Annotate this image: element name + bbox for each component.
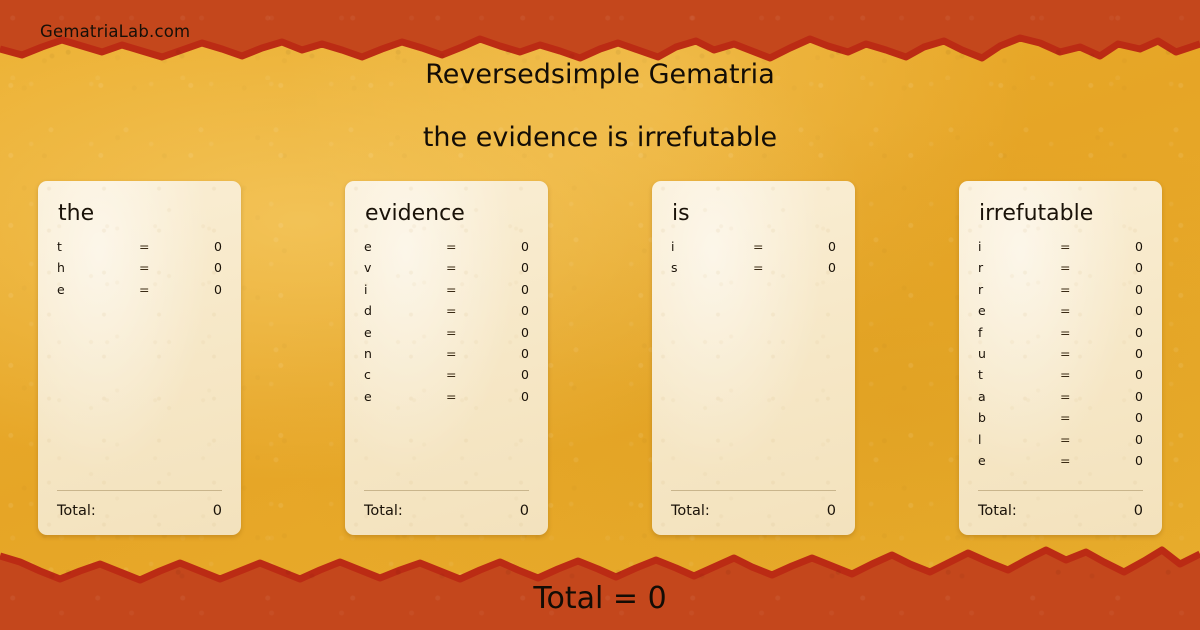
letter-row: l = 0 — [978, 432, 1143, 453]
letter-row: i = 0 — [671, 239, 836, 260]
letter-row: b = 0 — [978, 410, 1143, 431]
letter-row: i = 0 — [364, 282, 529, 303]
equals-sign: = — [1060, 367, 1120, 382]
letter-label: l — [978, 432, 1060, 447]
letter-row: i = 0 — [978, 239, 1143, 260]
letter-row: u = 0 — [978, 346, 1143, 367]
letter-row: r = 0 — [978, 282, 1143, 303]
equals-sign: = — [446, 346, 506, 361]
letter-label: i — [364, 282, 446, 297]
equals-sign: = — [1060, 239, 1120, 254]
word-card: irrefutable i = 0 r = 0 r = 0 — [959, 181, 1162, 535]
letter-value: 0 — [1120, 410, 1143, 425]
word-cards-container: the t = 0 h = 0 e = 0 — [38, 181, 1162, 535]
grand-total-label: Total = 0 — [0, 581, 1200, 616]
footer-divider — [57, 490, 222, 491]
letter-row: s = 0 — [671, 260, 836, 281]
letter-row: h = 0 — [57, 260, 222, 281]
letter-row: n = 0 — [364, 346, 529, 367]
letter-row: f = 0 — [978, 325, 1143, 346]
equals-sign: = — [1060, 282, 1120, 297]
letter-value: 0 — [199, 282, 222, 297]
equals-sign: = — [1060, 410, 1120, 425]
letter-value: 0 — [813, 239, 836, 254]
equals-sign: = — [139, 239, 199, 254]
letter-rows: t = 0 h = 0 e = 0 — [57, 239, 222, 303]
footer-divider — [364, 490, 529, 491]
letter-label: v — [364, 260, 446, 275]
letter-rows: i = 0 s = 0 — [671, 239, 836, 282]
letter-label: i — [671, 239, 753, 254]
word-total-line: Total: 0 — [57, 503, 222, 519]
letter-value: 0 — [506, 325, 529, 340]
letter-label: n — [364, 346, 446, 361]
letter-value: 0 — [199, 239, 222, 254]
word-card: evidence e = 0 v = 0 i = 0 d — [345, 181, 548, 535]
equals-sign: = — [446, 239, 506, 254]
equals-sign: = — [446, 303, 506, 318]
equals-sign: = — [446, 325, 506, 340]
letter-label: f — [978, 325, 1060, 340]
equals-sign: = — [446, 367, 506, 382]
letter-label: e — [364, 239, 446, 254]
letter-value: 0 — [1120, 346, 1143, 361]
letter-value: 0 — [1120, 260, 1143, 275]
word-card-footer: Total: 0 — [57, 490, 222, 519]
word-card-title: irrefutable — [979, 201, 1143, 227]
letter-rows: e = 0 v = 0 i = 0 d = 0 — [364, 239, 529, 410]
letter-value: 0 — [1120, 389, 1143, 404]
word-total-line: Total: 0 — [671, 503, 836, 519]
letter-row: t = 0 — [57, 239, 222, 260]
equals-sign: = — [753, 260, 813, 275]
equals-sign: = — [753, 239, 813, 254]
equals-sign: = — [1060, 303, 1120, 318]
letter-value: 0 — [1120, 303, 1143, 318]
letter-value: 0 — [506, 303, 529, 318]
word-total-value: 0 — [520, 503, 529, 519]
equals-sign: = — [1060, 346, 1120, 361]
site-brand-label: GematriaLab.com — [40, 22, 190, 41]
word-card: the t = 0 h = 0 e = 0 — [38, 181, 241, 535]
word-total-label: Total: — [57, 503, 96, 519]
letter-value: 0 — [1120, 432, 1143, 447]
equals-sign: = — [1060, 432, 1120, 447]
gematria-result-card: GematriaLab.com Reversedsimple Gematria … — [0, 0, 1200, 630]
letter-label: s — [671, 260, 753, 275]
word-total-label: Total: — [364, 503, 403, 519]
letter-value: 0 — [199, 260, 222, 275]
letter-value: 0 — [506, 239, 529, 254]
letter-row: r = 0 — [978, 260, 1143, 281]
word-card-title: the — [58, 201, 222, 227]
equals-sign: = — [446, 389, 506, 404]
letter-row: c = 0 — [364, 367, 529, 388]
letter-row: d = 0 — [364, 303, 529, 324]
equals-sign: = — [1060, 453, 1120, 468]
word-total-label: Total: — [671, 503, 710, 519]
letter-rows: i = 0 r = 0 r = 0 e = 0 — [978, 239, 1143, 474]
letter-label: e — [978, 453, 1060, 468]
letter-label: t — [57, 239, 139, 254]
word-total-value: 0 — [1134, 503, 1143, 519]
letter-row: e = 0 — [364, 325, 529, 346]
phrase-heading: the evidence is irrefutable — [0, 122, 1200, 153]
footer-divider — [978, 490, 1143, 491]
letter-value: 0 — [1120, 282, 1143, 297]
letter-row: e = 0 — [364, 389, 529, 410]
word-card-title: evidence — [365, 201, 529, 227]
letter-value: 0 — [506, 389, 529, 404]
letter-value: 0 — [813, 260, 836, 275]
word-card-title: is — [672, 201, 836, 227]
letter-value: 0 — [1120, 325, 1143, 340]
letter-label: r — [978, 260, 1060, 275]
letter-label: r — [978, 282, 1060, 297]
letter-label: h — [57, 260, 139, 275]
letter-label: c — [364, 367, 446, 382]
letter-label: u — [978, 346, 1060, 361]
letter-row: v = 0 — [364, 260, 529, 281]
page-title: Reversedsimple Gematria — [0, 59, 1200, 90]
letter-label: a — [978, 389, 1060, 404]
letter-value: 0 — [506, 346, 529, 361]
letter-label: e — [364, 389, 446, 404]
word-total-line: Total: 0 — [364, 503, 529, 519]
word-total-line: Total: 0 — [978, 503, 1143, 519]
letter-value: 0 — [506, 367, 529, 382]
equals-sign: = — [1060, 389, 1120, 404]
word-total-label: Total: — [978, 503, 1017, 519]
word-card-footer: Total: 0 — [978, 490, 1143, 519]
letter-value: 0 — [1120, 367, 1143, 382]
letter-row: e = 0 — [364, 239, 529, 260]
letter-value: 0 — [1120, 239, 1143, 254]
card-texture — [38, 181, 241, 535]
equals-sign: = — [446, 260, 506, 275]
letter-value: 0 — [506, 282, 529, 297]
letter-row: e = 0 — [978, 303, 1143, 324]
footer-divider — [671, 490, 836, 491]
letter-label: i — [978, 239, 1060, 254]
word-card-footer: Total: 0 — [364, 490, 529, 519]
equals-sign: = — [1060, 260, 1120, 275]
letter-row: e = 0 — [978, 453, 1143, 474]
letter-value: 0 — [506, 260, 529, 275]
letter-row: a = 0 — [978, 389, 1143, 410]
equals-sign: = — [139, 260, 199, 275]
letter-row: t = 0 — [978, 367, 1143, 388]
letter-label: d — [364, 303, 446, 318]
letter-value: 0 — [1120, 453, 1143, 468]
letter-label: e — [978, 303, 1060, 318]
equals-sign: = — [446, 282, 506, 297]
letter-label: b — [978, 410, 1060, 425]
word-card-footer: Total: 0 — [671, 490, 836, 519]
equals-sign: = — [139, 282, 199, 297]
letter-label: t — [978, 367, 1060, 382]
word-card: is i = 0 s = 0 Total: 0 — [652, 181, 855, 535]
word-total-value: 0 — [213, 503, 222, 519]
letter-label: e — [57, 282, 139, 297]
card-texture — [652, 181, 855, 535]
word-total-value: 0 — [827, 503, 836, 519]
equals-sign: = — [1060, 325, 1120, 340]
letter-row: e = 0 — [57, 282, 222, 303]
letter-label: e — [364, 325, 446, 340]
